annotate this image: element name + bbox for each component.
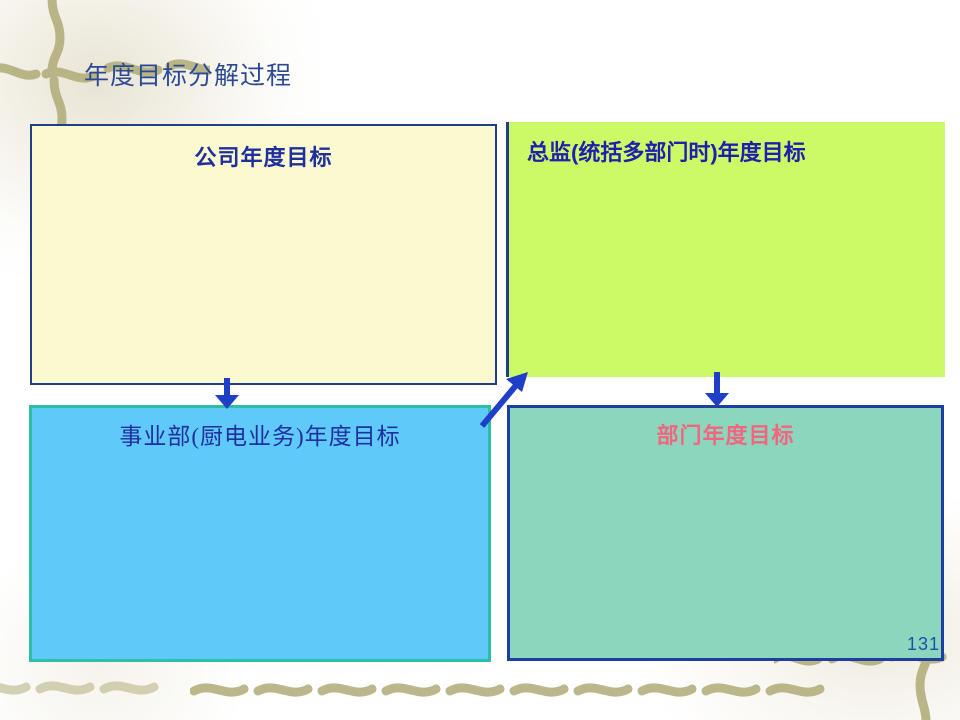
box-division-annual-goal[interactable]: 事业部(厨电业务)年度目标 bbox=[29, 405, 491, 662]
box-division-annual-goal-label: 事业部(厨电业务)年度目标 bbox=[32, 417, 488, 451]
box-department-annual-goal[interactable]: 部门年度目标 bbox=[507, 405, 944, 661]
box-company-annual-goal[interactable]: 公司年度目标 bbox=[30, 124, 497, 385]
box-director-annual-goal-label: 总监(统括多部门时)年度目标 bbox=[527, 135, 945, 167]
box-director-annual-goal[interactable]: 总监(统括多部门时)年度目标 bbox=[506, 122, 945, 377]
page-title: 年度目标分解过程 bbox=[84, 62, 292, 92]
wavy-line-ornament-bottom-left bbox=[0, 655, 190, 720]
box-department-annual-goal-label: 部门年度目标 bbox=[510, 418, 941, 450]
page-number: 131 bbox=[907, 634, 940, 655]
slide-canvas: 年度目标分解过程 公司年度目标 总监(统括多部门时)年度目标 事业部(厨电业务)… bbox=[0, 0, 960, 720]
box-company-annual-goal-label: 公司年度目标 bbox=[32, 140, 495, 172]
wavy-dashed-line-ornament-bottom bbox=[190, 665, 830, 714]
